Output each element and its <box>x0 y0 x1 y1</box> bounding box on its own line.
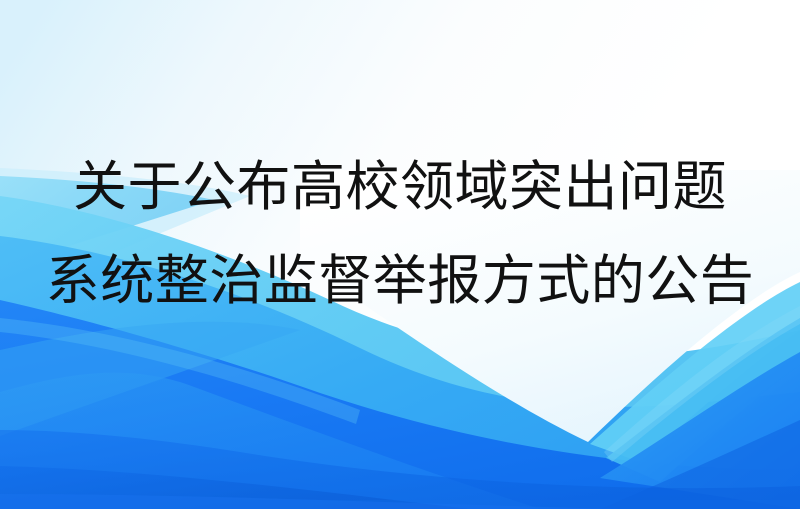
wave-bottom-edge-shade <box>0 500 800 509</box>
announcement-poster: 关于公布高校领域突出问题 系统整治监督举报方式的公告 <box>0 0 800 509</box>
background-wave-graphic <box>0 0 800 509</box>
